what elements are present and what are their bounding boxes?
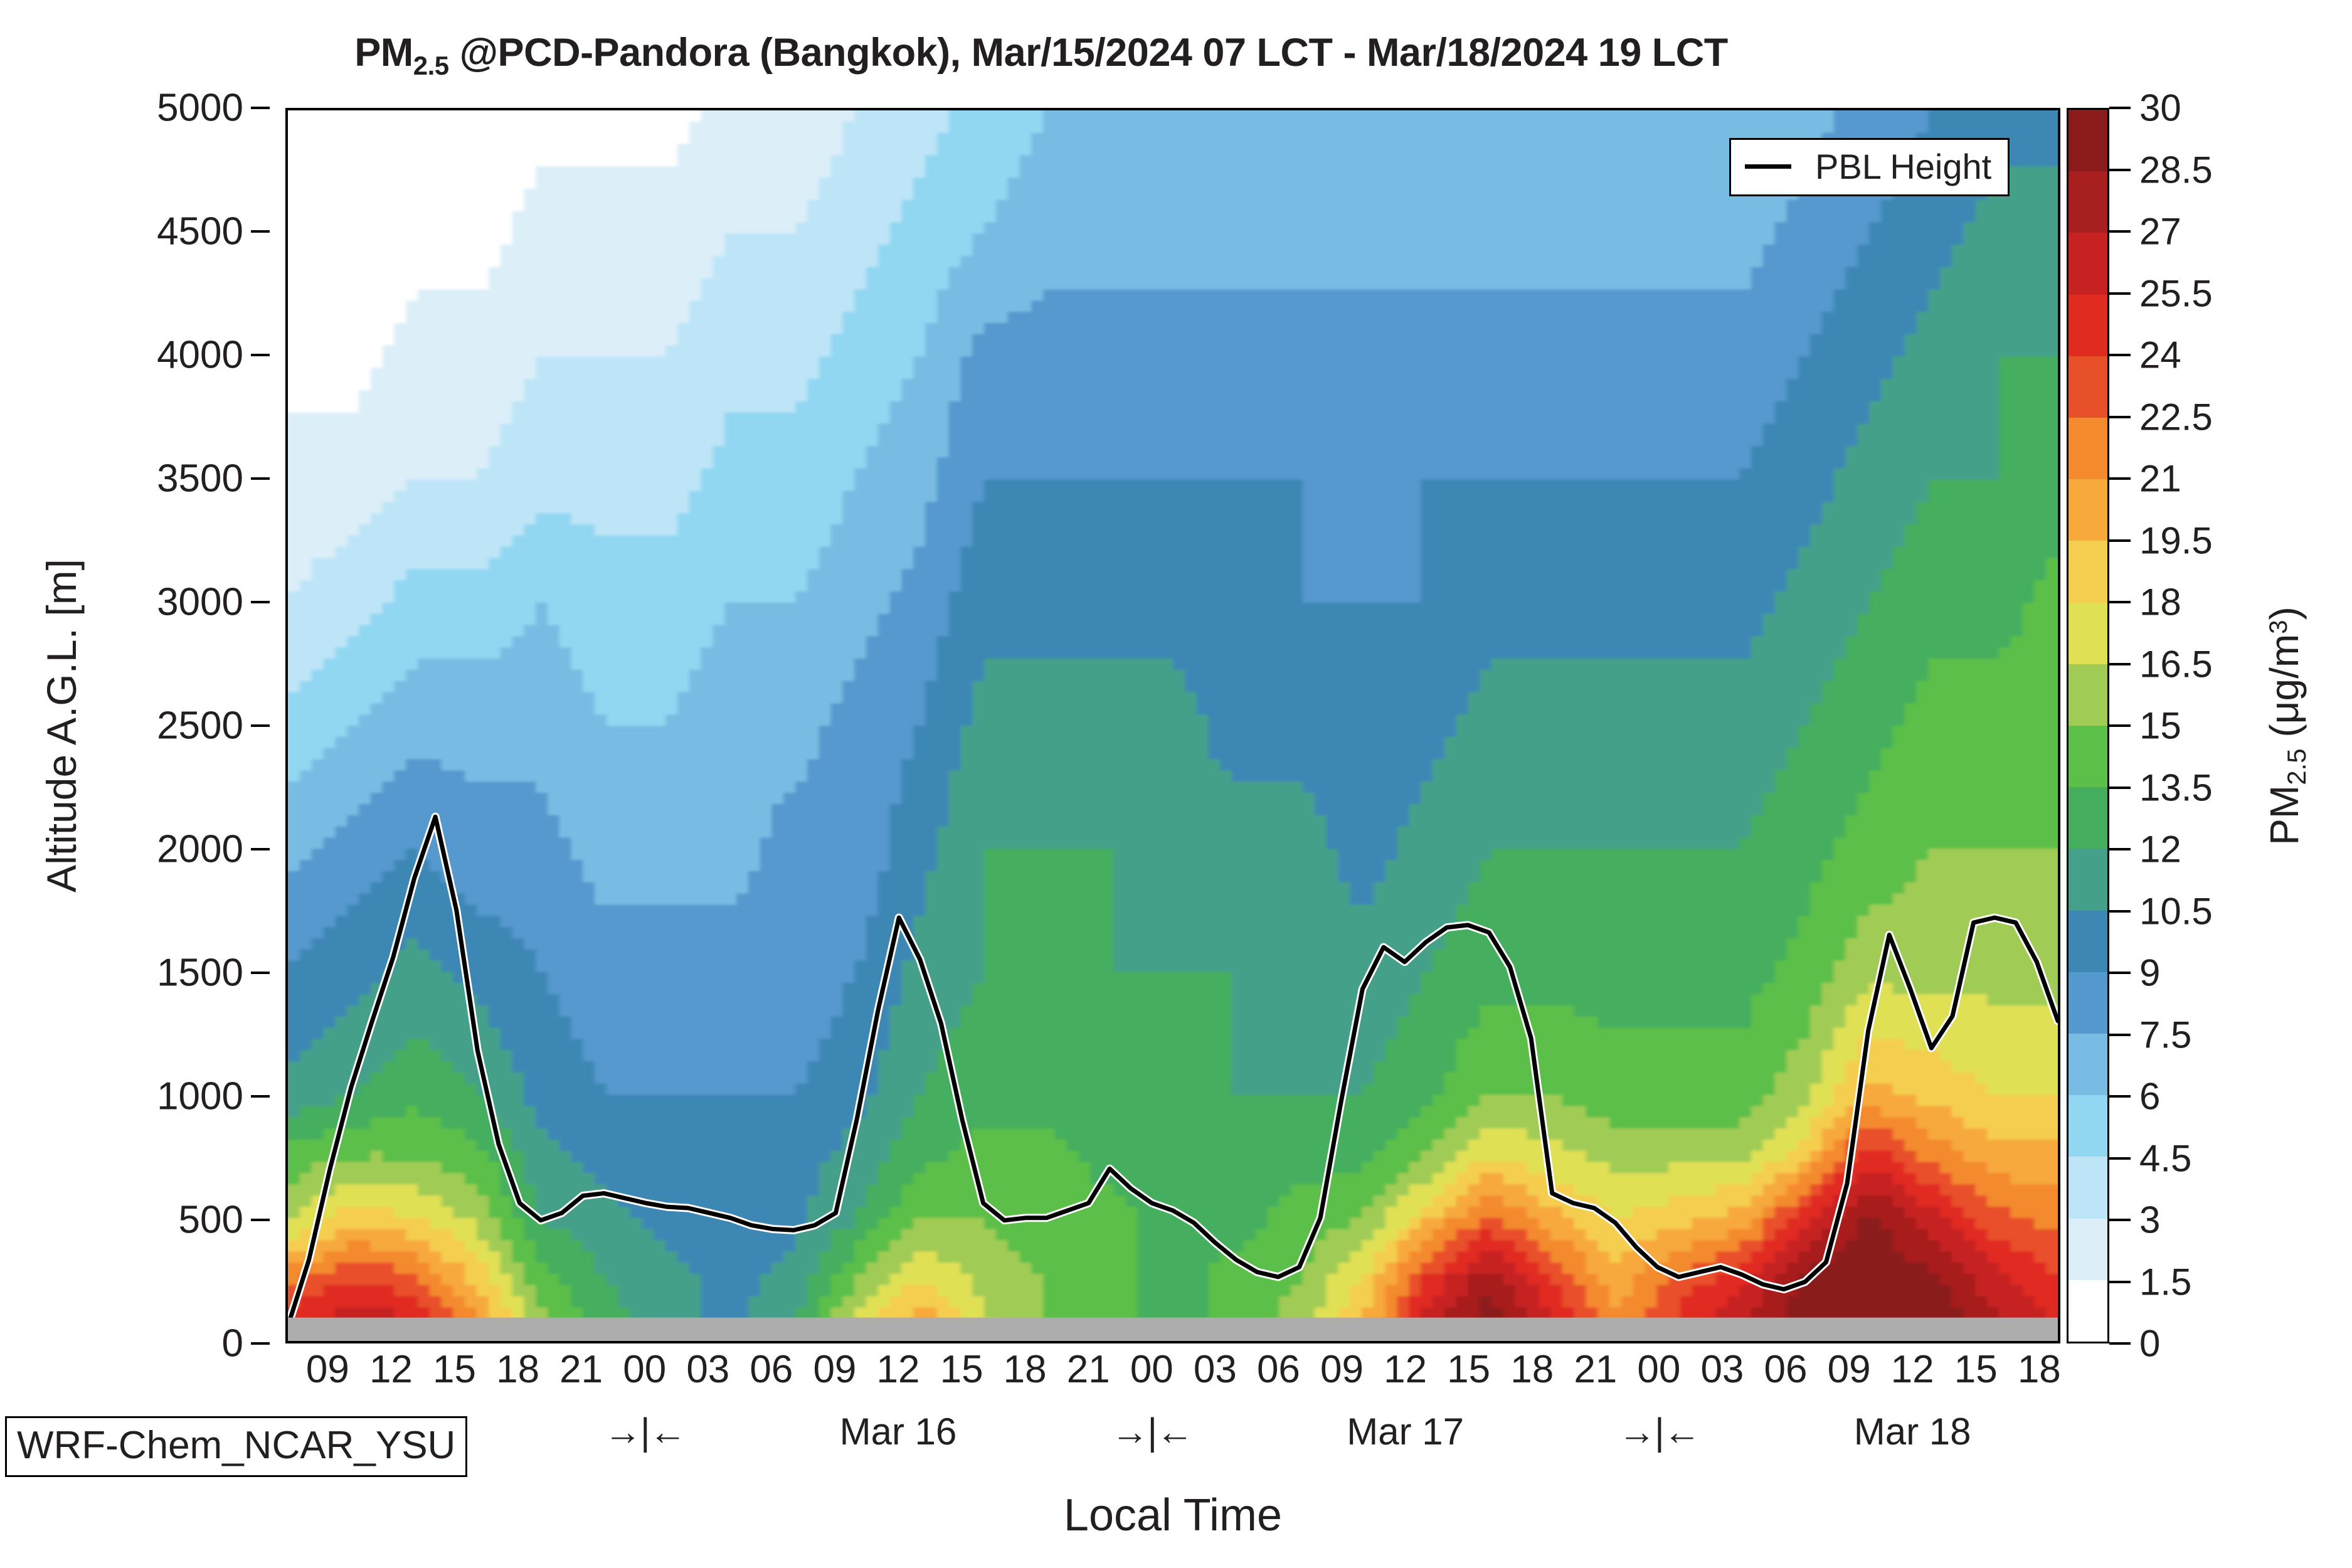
- colorbar-tick-mark: [2109, 477, 2131, 480]
- cb-unit-sup: 3: [2265, 620, 2292, 633]
- x-tick-label: 12: [1384, 1347, 1427, 1392]
- x-tick-label: 15: [1447, 1347, 1490, 1392]
- contour-cells: [288, 110, 2058, 1341]
- y-tick-mark: [251, 972, 270, 974]
- x-tick-label: 00: [623, 1347, 666, 1392]
- x-tick-label: 03: [1194, 1347, 1237, 1392]
- x-tick-label: 21: [1067, 1347, 1110, 1392]
- x-tick-label: 15: [433, 1347, 476, 1392]
- colorbar-tick-label: 12: [2139, 828, 2181, 871]
- x-tick-label: 12: [877, 1347, 920, 1392]
- x-day-separator: →|←: [1618, 1410, 1700, 1453]
- x-day-label: Mar 18: [1854, 1410, 1971, 1453]
- colorbar-tick-mark: [2109, 1281, 2131, 1283]
- colorbar-tick-mark: [2109, 663, 2131, 665]
- y-tick-mark: [251, 724, 270, 727]
- y-tick-mark: [251, 1219, 270, 1221]
- x-tick-label: 06: [1764, 1347, 1808, 1392]
- x-tick-label: 18: [1510, 1347, 1554, 1392]
- terrain-strip: [288, 1318, 2058, 1341]
- colorbar-tick-mark: [2109, 1034, 2131, 1036]
- chart-title: PM2.5 @PCD-Pandora (Bangkok), Mar/15/202…: [0, 30, 2082, 81]
- figure-root: PM2.5 @PCD-Pandora (Bangkok), Mar/15/202…: [0, 0, 2352, 1568]
- colorbar-tick-label: 18: [2139, 581, 2181, 624]
- x-axis-ticks: 0912151821000306091215182100030609121518…: [285, 1347, 2060, 1397]
- colorbar-tick-label: 15: [2139, 704, 2181, 748]
- colorbar-tick-label: 3: [2139, 1199, 2160, 1242]
- colorbar-tick-label: 28.5: [2139, 148, 2213, 191]
- x-axis-day-labels: Mar 16Mar 17Mar 18→|←→|←→|←: [285, 1410, 2060, 1466]
- colorbar-tick-label: 0: [2139, 1322, 2160, 1365]
- plot-area: [285, 108, 2060, 1343]
- y-tick-label: 3500: [157, 457, 243, 501]
- colorbar-tick-mark: [2109, 1219, 2131, 1221]
- x-tick-label: 12: [1891, 1347, 1934, 1392]
- cb-sub: 2.5: [2282, 748, 2311, 785]
- colorbar-ticks: 01.534.567.5910.51213.51516.51819.52122.…: [2067, 108, 2223, 1343]
- colorbar-tick-label: 9: [2139, 951, 2160, 995]
- title-pre: PM: [354, 31, 413, 75]
- colorbar-tick-label: 7.5: [2139, 1013, 2191, 1056]
- y-tick-label: 2000: [157, 827, 243, 872]
- x-tick-label: 18: [496, 1347, 539, 1392]
- y-tick-label: 3000: [157, 580, 243, 625]
- y-tick-mark: [251, 107, 270, 109]
- colorbar-tick-label: 1.5: [2139, 1260, 2191, 1303]
- y-tick-mark: [251, 354, 270, 356]
- colorbar-tick-label: 6: [2139, 1075, 2160, 1118]
- colorbar-tick-mark: [2109, 848, 2131, 850]
- colorbar-tick-mark: [2109, 972, 2131, 974]
- y-tick-label: 4500: [157, 209, 243, 254]
- y-tick-label: 2500: [157, 704, 243, 748]
- y-tick-mark: [251, 230, 270, 233]
- colorbar-tick-label: 21: [2139, 457, 2181, 501]
- y-tick-mark: [251, 601, 270, 603]
- y-tick-label: 1500: [157, 951, 243, 995]
- colorbar-tick-label: 24: [2139, 334, 2181, 377]
- x-tick-label: 09: [813, 1347, 856, 1392]
- x-tick-label: 00: [1637, 1347, 1680, 1392]
- colorbar-tick-label: 25.5: [2139, 272, 2213, 315]
- cb-pre: PM: [2262, 785, 2307, 845]
- y-tick-mark: [251, 1342, 270, 1345]
- colorbar-tick-mark: [2109, 910, 2131, 913]
- x-tick-label: 21: [1574, 1347, 1617, 1392]
- colorbar-tick-mark: [2109, 1095, 2131, 1098]
- colorbar-tick-mark: [2109, 169, 2131, 171]
- colorbar-tick-mark: [2109, 1157, 2131, 1160]
- colorbar-tick-mark: [2109, 724, 2131, 727]
- pbl-line-swatch: [1745, 164, 1791, 169]
- y-tick-mark: [251, 477, 270, 480]
- x-tick-label: 06: [750, 1347, 793, 1392]
- x-tick-label: 15: [940, 1347, 983, 1392]
- x-day-label: Mar 16: [840, 1410, 957, 1453]
- colorbar-tick-label: 10.5: [2139, 889, 2213, 933]
- x-day-label: Mar 17: [1347, 1410, 1464, 1453]
- colorbar-tick-mark: [2109, 601, 2131, 603]
- y-axis-ticks: 0500100015002000250030003500400045005000: [0, 108, 270, 1343]
- x-tick-label: 21: [559, 1347, 603, 1392]
- cb-unit-open: (μg/m: [2262, 633, 2307, 748]
- colorbar-tick-mark: [2109, 230, 2131, 233]
- x-tick-label: 18: [2018, 1347, 2061, 1392]
- colorbar-tick-mark: [2109, 292, 2131, 295]
- colorbar-tick-label: 13.5: [2139, 766, 2213, 809]
- model-annotation-box: WRF-Chem_NCAR_YSU: [5, 1416, 467, 1477]
- y-tick-label: 4000: [157, 333, 243, 378]
- y-tick-label: 500: [179, 1198, 243, 1242]
- colorbar-tick-mark: [2109, 1342, 2131, 1345]
- y-tick-mark: [251, 848, 270, 850]
- colorbar-tick-mark: [2109, 416, 2131, 418]
- y-tick-mark: [251, 1095, 270, 1098]
- colorbar-tick-label: 16.5: [2139, 642, 2213, 686]
- colorbar-tick-mark: [2109, 787, 2131, 789]
- colorbar-tick-label: 22.5: [2139, 395, 2213, 438]
- colorbar-tick-label: 19.5: [2139, 519, 2213, 562]
- x-tick-label: 00: [1130, 1347, 1173, 1392]
- colorbar-tick-label: 27: [2139, 210, 2181, 253]
- legend-box: PBL Height: [1729, 138, 2010, 196]
- title-subscript: 2.5: [413, 51, 449, 80]
- y-tick-label: 1000: [157, 1074, 243, 1119]
- colorbar-tick-mark: [2109, 354, 2131, 356]
- colorbar-title-text: PM2.5 (μg/m3): [2261, 607, 2312, 845]
- x-tick-label: 09: [1320, 1347, 1364, 1392]
- x-day-separator: →|←: [604, 1410, 686, 1453]
- x-tick-label: 18: [1004, 1347, 1047, 1392]
- x-tick-label: 06: [1257, 1347, 1300, 1392]
- y-tick-label: 0: [222, 1322, 243, 1366]
- colorbar-tick-mark: [2109, 539, 2131, 542]
- x-day-separator: →|←: [1111, 1410, 1193, 1453]
- colorbar-tick-mark: [2109, 107, 2131, 109]
- colorbar-title: PM2.5 (μg/m3): [2258, 108, 2314, 1343]
- y-tick-label: 5000: [157, 86, 243, 130]
- x-tick-label: 15: [1954, 1347, 1998, 1392]
- legend-label: PBL Height: [1815, 146, 1991, 187]
- x-axis-label: Local Time: [285, 1490, 2060, 1541]
- x-tick-label: 12: [369, 1347, 413, 1392]
- cb-unit-close: ): [2262, 607, 2307, 620]
- x-tick-label: 09: [306, 1347, 349, 1392]
- title-post: @PCD-Pandora (Bangkok), Mar/15/2024 07 L…: [449, 31, 1728, 75]
- x-tick-label: 03: [686, 1347, 729, 1392]
- contour-field: [288, 110, 2058, 1341]
- x-tick-label: 09: [1828, 1347, 1871, 1392]
- colorbar-tick-label: 30: [2139, 87, 2181, 130]
- x-tick-label: 03: [1700, 1347, 1744, 1392]
- colorbar-tick-label: 4.5: [2139, 1136, 2191, 1180]
